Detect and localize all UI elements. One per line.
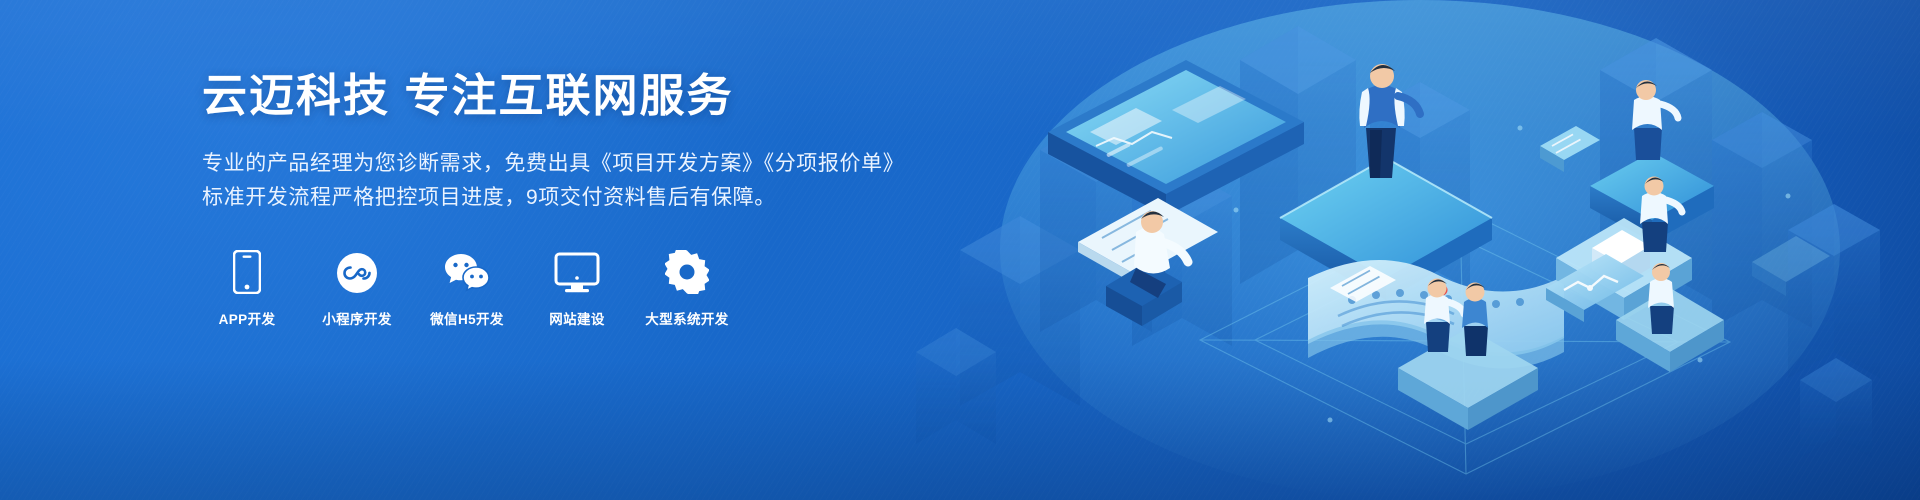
mini-program-icon	[336, 248, 378, 294]
service-item-wechat-h5[interactable]: 微信H5开发	[428, 248, 506, 328]
page-title: 云迈科技 专注互联网服务	[202, 72, 904, 119]
gear-icon	[665, 248, 709, 294]
mobile-phone-icon	[233, 248, 261, 294]
service-label-website: 网站建设	[549, 308, 605, 328]
service-item-enterprise-system[interactable]: 大型系统开发	[648, 248, 726, 328]
service-label-wechat-h5: 微信H5开发	[430, 308, 504, 328]
wechat-bubbles-icon	[443, 248, 491, 294]
subtitle-block: 专业的产品经理为您诊断需求，免费出具《项目开发方案》《分项报价单》 标准开发流程…	[202, 147, 904, 215]
banner-copy: 云迈科技 专注互联网服务 专业的产品经理为您诊断需求，免费出具《项目开发方案》《…	[202, 72, 904, 328]
isometric-illustration	[900, 0, 1920, 500]
service-label-miniprogram: 小程序开发	[322, 308, 392, 328]
service-item-app[interactable]: APP开发	[208, 248, 286, 328]
service-label-app: APP开发	[219, 308, 276, 328]
subtitle-line-2: 标准开发流程严格把控项目进度，9项交付资料售后有保障。	[202, 181, 904, 215]
service-list: APP开发 小程序开发	[202, 248, 904, 328]
service-item-miniprogram[interactable]: 小程序开发	[318, 248, 396, 328]
monitor-icon	[554, 248, 600, 294]
service-item-website[interactable]: 网站建设	[538, 248, 616, 328]
service-label-enterprise-system: 大型系统开发	[645, 308, 728, 328]
subtitle-line-1: 专业的产品经理为您诊断需求，免费出具《项目开发方案》《分项报价单》	[202, 147, 904, 181]
promo-banner: 云迈科技 专注互联网服务 专业的产品经理为您诊断需求，免费出具《项目开发方案》《…	[0, 0, 1920, 500]
